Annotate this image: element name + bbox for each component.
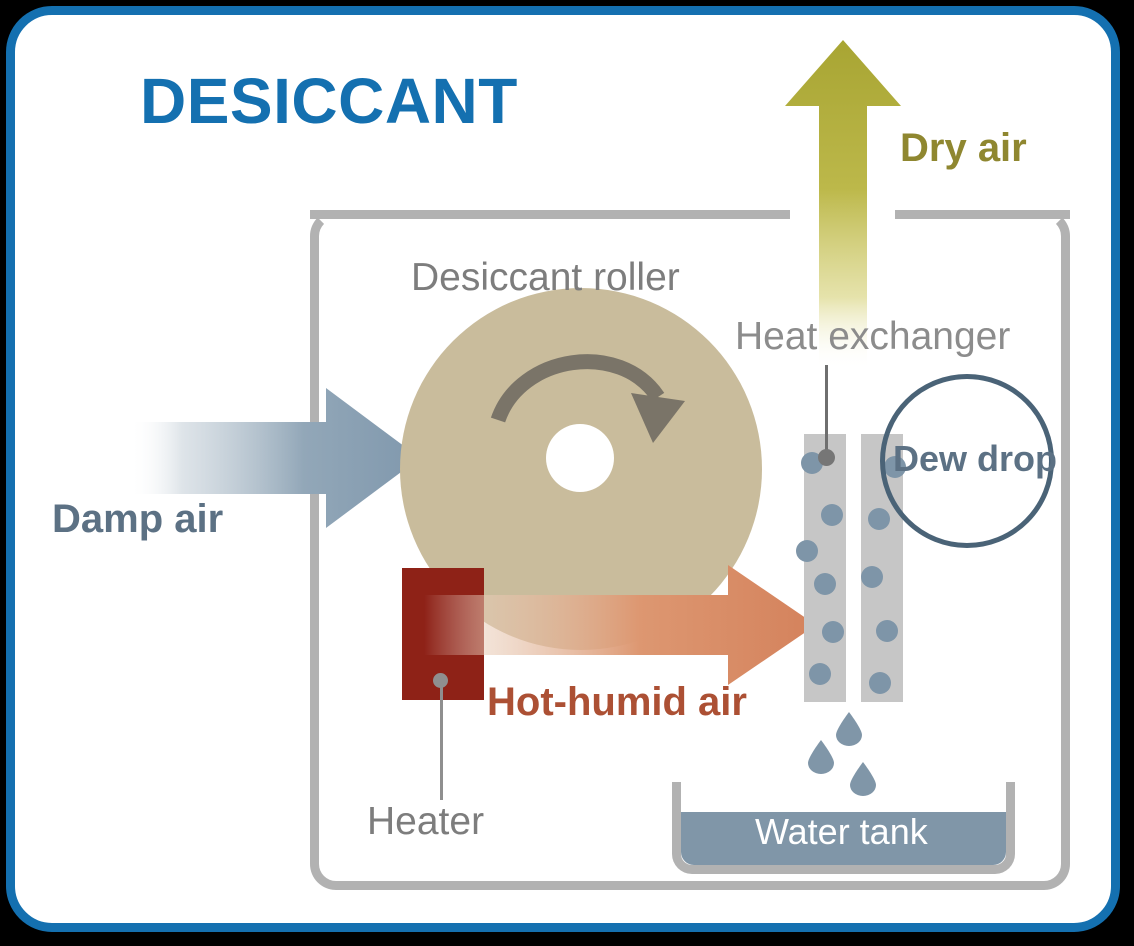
machine-frame-top-left [310,210,790,219]
condensation-dot [868,508,890,530]
machine-frame-top-right [895,210,1070,219]
water-drop-icon [808,740,834,774]
heat-exchanger-plate-left [804,434,846,702]
condensation-dot [869,672,891,694]
heat-exchanger-label: Heat exchanger [735,315,1010,359]
condensation-dot [861,566,883,588]
hot-humid-air-arrow-icon [424,565,816,685]
damp-air-label: Damp air [52,497,223,542]
heater-label: Heater [367,800,484,844]
condensation-dot [809,663,831,685]
heat-exchanger-leader-line [825,365,828,455]
diagram-canvas: DESICCANT Damp air Dry air [0,0,1134,946]
hot-humid-air-label: Hot-humid air [487,680,747,725]
water-drop-icon [836,712,862,746]
water-tank-label: Water tank [755,811,928,853]
condensation-dot [796,540,818,562]
heater-leader-line [440,678,443,800]
condensation-dot [814,573,836,595]
condensation-dot [821,504,843,526]
rotation-arrow-icon [490,335,700,455]
condensation-dot [876,620,898,642]
dry-air-label: Dry air [900,126,1027,171]
condensation-dot [822,621,844,643]
desiccant-roller-label: Desiccant roller [411,256,680,300]
page-title: DESICCANT [140,64,518,138]
heat-exchanger-leader-dot [818,449,835,466]
dew-drop-label: Dew drop [893,438,1057,480]
